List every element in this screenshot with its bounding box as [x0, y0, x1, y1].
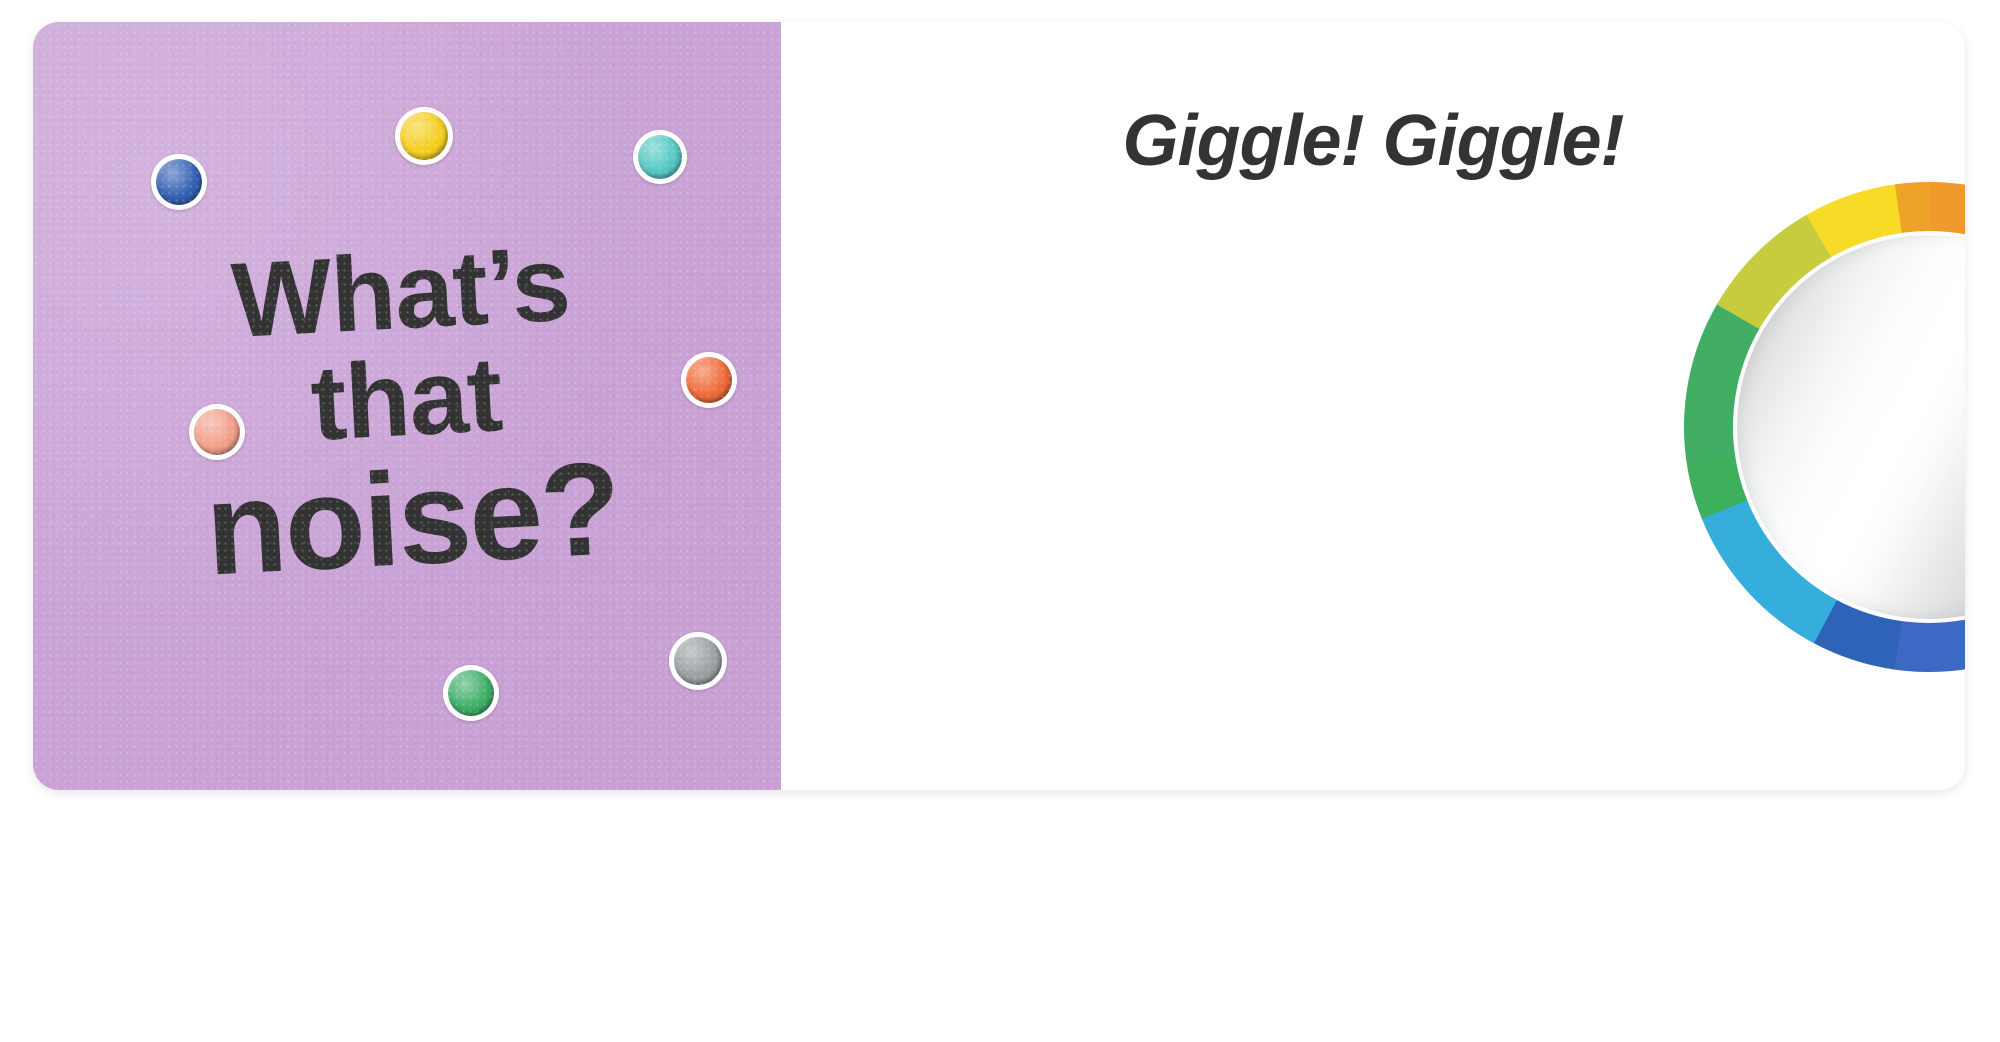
dot-salmon[interactable]	[189, 404, 245, 460]
dot-green[interactable]	[443, 665, 499, 721]
dot-gray[interactable]	[669, 632, 727, 690]
book-spread: What’s that noise? PRESS	[0, 0, 2000, 1042]
dot-yellow[interactable]	[395, 107, 453, 165]
dot-teal-rim	[633, 130, 687, 184]
left-page: What’s that noise? PRESS	[33, 22, 781, 790]
dot-orange[interactable]	[681, 352, 737, 408]
color-wheel	[1684, 182, 1965, 672]
headline: Giggle! Giggle!	[781, 100, 1965, 182]
dot-yellow-rim	[395, 107, 453, 165]
dot-green-rim	[443, 665, 499, 721]
dot-orange-rim	[681, 352, 737, 408]
dot-salmon-rim	[189, 404, 245, 460]
dot-gray-rim	[669, 632, 727, 690]
dot-blue-rim	[151, 154, 207, 210]
dot-blue[interactable]	[151, 154, 207, 210]
board-book: What’s that noise? PRESS	[33, 22, 1965, 790]
page-title: What’s that noise?	[33, 218, 790, 608]
right-page: Giggle! Giggle! It’s you!	[781, 22, 1965, 790]
dot-teal[interactable]	[633, 130, 687, 184]
